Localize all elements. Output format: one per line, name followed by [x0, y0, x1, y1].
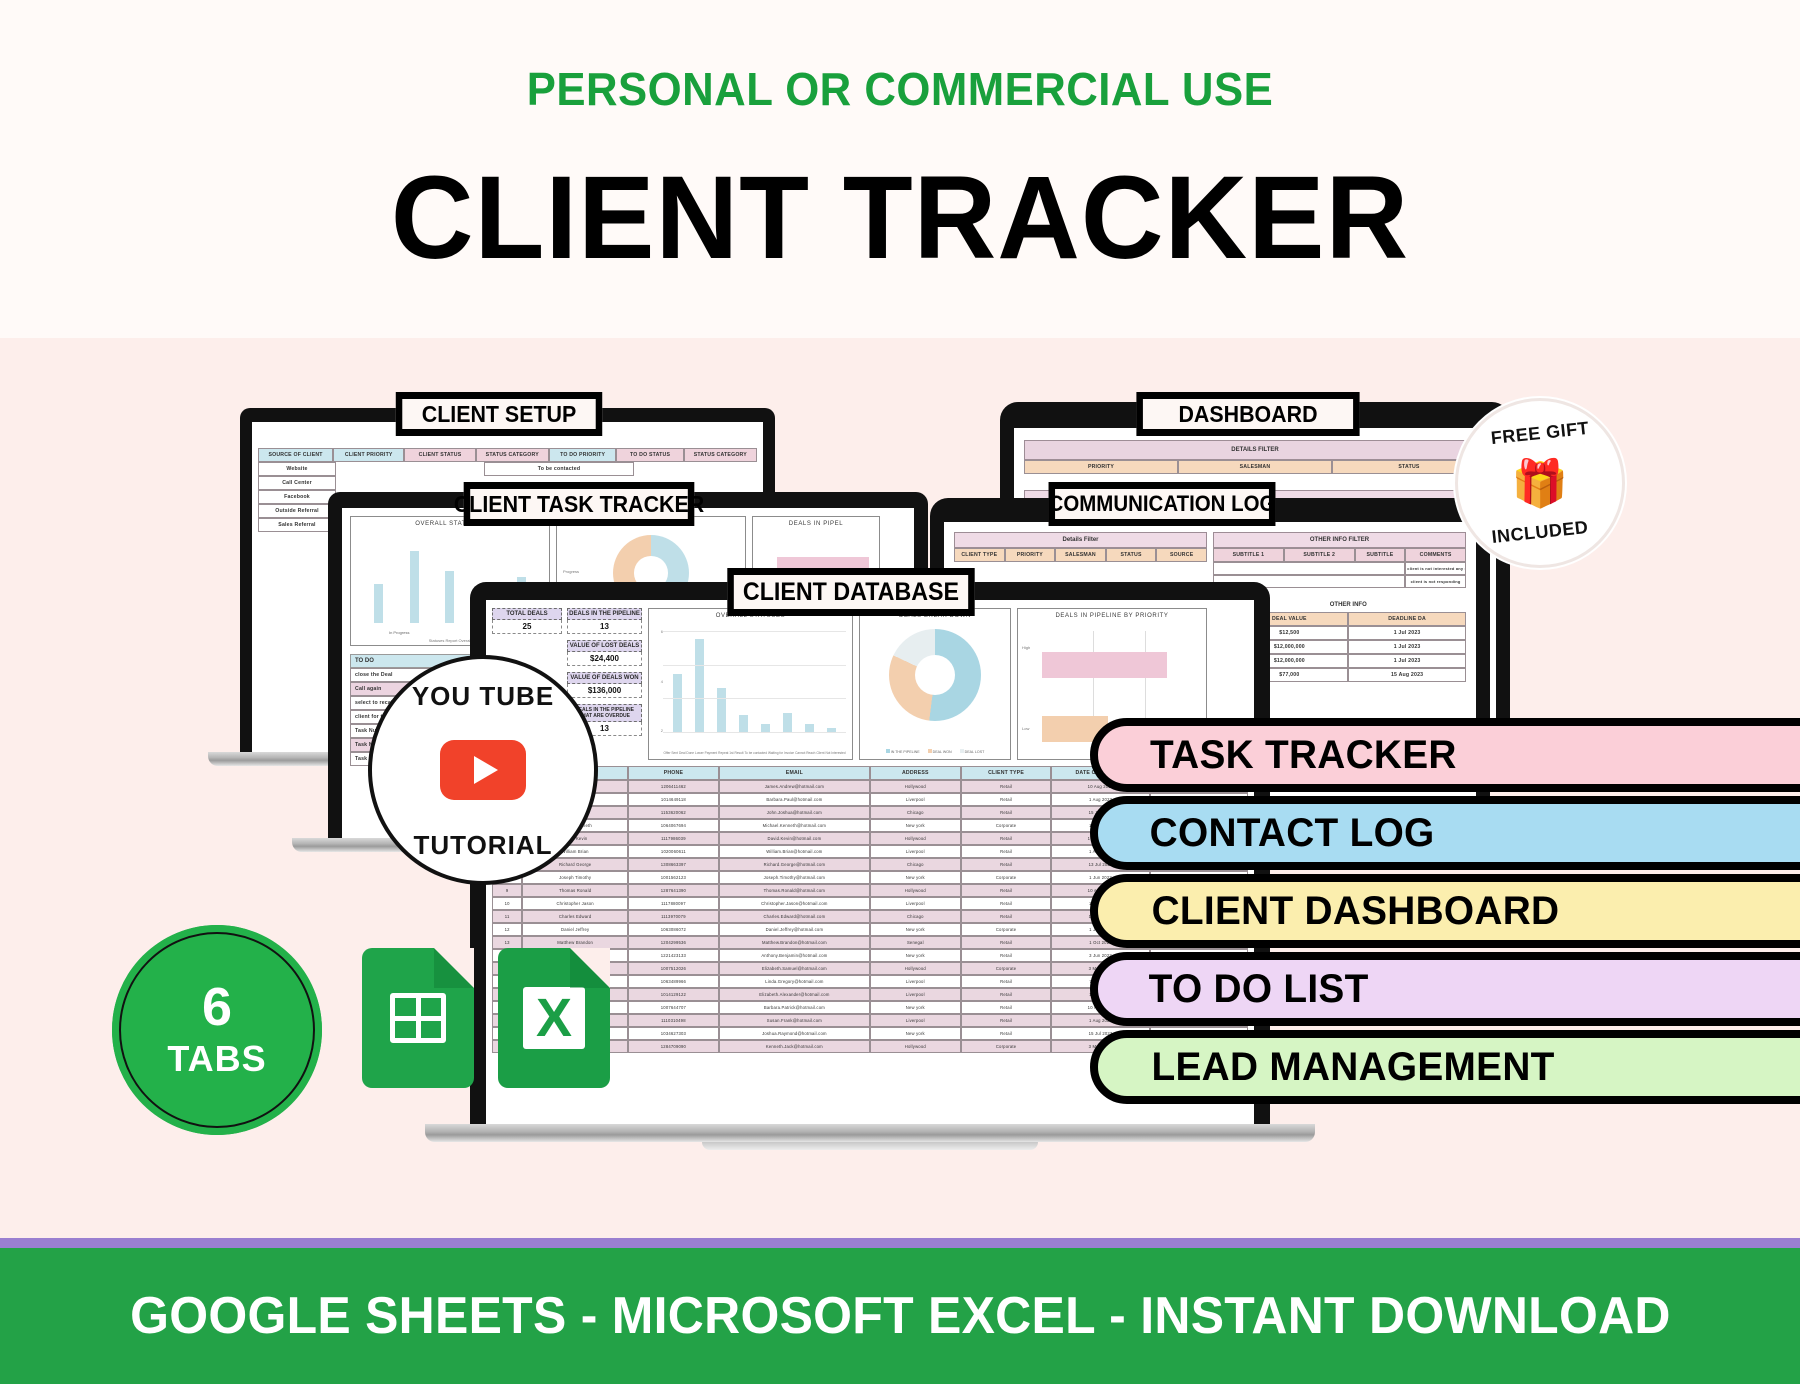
sheets-grid-glyph	[390, 993, 446, 1043]
table-cell: 15 Aug 2023	[1348, 668, 1466, 682]
table-cell: Richard.George@hotmail.com	[719, 858, 870, 871]
table-cell: 12	[492, 923, 522, 936]
kpi-label: DEALS IN THE PIPELINE	[567, 608, 642, 620]
label-dashboard: DASHBOARD	[1136, 392, 1359, 436]
kpi-value: $24,400	[567, 652, 642, 666]
table-cell: Retail	[961, 793, 1052, 806]
table-cell: Retail	[961, 1001, 1052, 1014]
table-cell: Retail	[961, 1014, 1052, 1027]
panel-title-deals-pipeline-priority: DEALS IN PIPELINE BY PRIORITY	[1018, 609, 1206, 621]
table-cell: Charles.Edward@hotmail.com	[719, 910, 870, 923]
table-cell: Thomas Ronald	[522, 884, 628, 897]
table-cell: Call Center	[258, 476, 336, 490]
table-cell: Christopher.Jason@hotmail.com	[719, 897, 870, 910]
axis-tick: To be contacted	[744, 751, 767, 755]
table-cell: 1 Jul 2023	[1348, 654, 1466, 668]
donut-chart-deals-break-down	[889, 629, 981, 721]
accent-rule	[0, 1238, 1800, 1248]
table-cell: Retail	[961, 884, 1052, 897]
table-cell: Joseph Timothy	[522, 871, 628, 884]
table-cell: 1 Jul 2023	[1348, 626, 1466, 640]
table-header-cell: STATUS CATEGORY	[476, 448, 549, 462]
axis-tick: Low	[1022, 726, 1029, 731]
youtube-badge-top-text: YOU TUBE	[372, 681, 594, 712]
table-cell: Matthew.Brandon@hotmail.com	[719, 936, 870, 949]
table-header-cell: SOURCE	[1156, 548, 1207, 562]
table-cell: Joshua.Raymond@hotmail.com	[719, 1027, 870, 1040]
table-cell: Barbara.Paul@hotmail.com	[719, 793, 870, 806]
table-cell: To be contacted	[484, 462, 634, 476]
table-cell: 1001562123	[628, 871, 719, 884]
table-header-cell: STATUS	[1106, 548, 1157, 562]
table-cell: Hollywood	[870, 832, 961, 845]
table-cell: 10	[492, 897, 522, 910]
table-cell: Retail	[961, 858, 1052, 871]
table-header-cell: SALESMAN	[1178, 460, 1332, 474]
microsoft-excel-icon: X	[498, 948, 610, 1088]
table-cell: 1221423133	[628, 949, 719, 962]
table-cell: Charles Edward	[522, 910, 628, 923]
table-header-cell: STATUS CATEGORY	[684, 448, 757, 462]
table-cell: John.Joshua@hotmail.com	[719, 806, 870, 819]
table-cell: Daniel Jeffrey	[522, 923, 628, 936]
table-cell: Liverpool	[870, 897, 961, 910]
table-cell: 1064067694	[628, 819, 719, 832]
axis-tick: High	[1022, 645, 1030, 650]
poster-canvas: PERSONAL OR COMMERCIAL USE CLIENT TRACKE…	[0, 0, 1800, 1384]
table-cell: client is not responding	[1405, 575, 1466, 588]
table-cell: 11	[492, 910, 522, 923]
table-cell: 1063489966	[628, 975, 719, 988]
label-client-task-tracker: CLIENT TASK TRACKER	[464, 482, 695, 526]
table-cell: Retail	[961, 988, 1052, 1001]
tabs-count-badge: 6 TABS	[112, 925, 322, 1135]
table-header-cell: PHONE	[628, 766, 719, 780]
table-cell: Liverpool	[870, 845, 961, 858]
table-header-cell: SUBTITLE 1	[1213, 548, 1284, 562]
table-cell: Christopher Jason	[522, 897, 628, 910]
table-header-cell: SUBTITLE 2	[1284, 548, 1355, 562]
table-cell: 1284709090	[628, 1040, 719, 1053]
table-cell: Retail	[961, 936, 1052, 949]
table-cell: Liverpool	[870, 793, 961, 806]
table-header-cell: TO DO STATUS	[616, 448, 683, 462]
table-cell: James.Andrew@hotmail.com	[719, 780, 870, 793]
table-cell: Outside Referral	[258, 504, 336, 518]
axis-tick: Repeat 1st Result	[718, 751, 743, 755]
table-cell: Retail	[961, 806, 1052, 819]
table-cell: Retail	[961, 832, 1052, 845]
details-filter-title: Details Filter	[954, 532, 1207, 548]
table-header-cell: COMMENTS	[1405, 548, 1466, 562]
table-cell: 1110310498	[628, 1014, 719, 1027]
free-gift-top-text: FREE GIFT	[1457, 414, 1622, 452]
table-cell: Corporate	[961, 819, 1052, 832]
axis-tick: 4	[661, 679, 663, 684]
table-cell: 9	[492, 884, 522, 897]
label-client-setup: CLIENT SETUP	[396, 392, 602, 436]
kpi-value: 13	[567, 620, 642, 634]
laptop-notch	[702, 1142, 1038, 1150]
kpi-label: TOTAL DEALS	[492, 608, 562, 620]
table-cell: Hollywood	[870, 1040, 961, 1053]
table-header-cell: SALESMAN	[1055, 548, 1106, 562]
table-header-cell: ADDRESS	[870, 766, 961, 780]
priority-bar-high	[1042, 652, 1167, 678]
tab-label: LEAD MANAGEMENT	[1105, 1045, 1555, 1090]
table-header-cell: SOURCE OF CLIENT	[258, 448, 333, 462]
table-cell: David.Kevin@hotmail.com	[719, 832, 870, 845]
table-cell: New york	[870, 949, 961, 962]
axis-tick: Lower Payment	[695, 751, 717, 755]
table-header-cell: TO DO PRIORITY	[549, 448, 616, 462]
table-cell: Retail	[961, 780, 1052, 793]
table-cell: Sales Referral	[258, 518, 336, 532]
axis-tick: 6	[661, 629, 663, 634]
table-cell: Liverpool	[870, 975, 961, 988]
axis-tick: Deal Done	[679, 751, 694, 755]
table-cell: 1287641390	[628, 884, 719, 897]
axis-tick: Waiting for Invoice	[768, 751, 794, 755]
axis-tick: Not Interested	[825, 751, 845, 755]
gift-icon: 🎁	[1511, 460, 1568, 506]
table-cell: Joseph.Timothy@hotmail.com	[719, 871, 870, 884]
table-header-cell: EMAIL	[719, 766, 870, 780]
footer-text: GOOGLE SHEETS - MICROSOFT EXCEL - INSTAN…	[130, 1286, 1671, 1346]
play-icon	[440, 740, 526, 800]
bar-chart-overall-statuses	[663, 631, 846, 733]
table-cell: 1020060611	[628, 845, 719, 858]
legend-item: DEAL WON	[928, 749, 952, 754]
table-cell: Chicago	[870, 910, 961, 923]
free-gift-badge: FREE GIFT 🎁 INCLUDED	[1455, 398, 1625, 568]
tab-to-do-list[interactable]: TO DO LIST	[1090, 952, 1800, 1026]
axis-tick: Offer Sent	[663, 751, 677, 755]
table-header-cell: DEADLINE DA	[1348, 612, 1466, 626]
table-cell: New york	[870, 871, 961, 884]
tab-label: TO DO LIST	[1102, 967, 1368, 1012]
legend-item: IN THE PIPELINE	[886, 749, 920, 754]
tab-client-dashboard[interactable]: CLIENT DASHBOARD	[1090, 874, 1800, 948]
eyebrow-text: PERSONAL OR COMMERCIAL USE	[45, 62, 1755, 116]
table-cell: Hollywood	[870, 962, 961, 975]
table-cell: 1308663397	[628, 858, 719, 871]
table-header-cell: SUBTITLE	[1355, 548, 1406, 562]
table-cell: New york	[870, 1001, 961, 1014]
table-cell: Chicago	[870, 858, 961, 871]
other-info-filter-title: OTHER INFO FILTER	[1213, 532, 1466, 548]
table-cell: Corporate	[961, 871, 1052, 884]
table-cell: 1014129122	[628, 988, 719, 1001]
table-cell: Chicago	[870, 806, 961, 819]
table-cell: 1113970079	[628, 910, 719, 923]
table-cell: 1034627303	[628, 1027, 719, 1040]
page-title: CLIENT TRACKER	[27, 150, 1773, 286]
table-cell: Retail	[961, 1027, 1052, 1040]
table-cell: Hollywood	[870, 884, 961, 897]
table-cell: Barbara.Patrick@hotmail.com	[719, 1001, 870, 1014]
youtube-badge-bottom-text: TUTORIAL	[372, 830, 594, 861]
table-cell: 1117986039	[628, 832, 719, 845]
table-cell: Michael.Kenneth@hotmail.com	[719, 819, 870, 832]
table-header-cell: CLIENT TYPE	[954, 548, 1005, 562]
table-header-cell: CLIENT PRIORITY	[333, 448, 404, 462]
axis-tick: In Progress	[389, 630, 409, 635]
table-cell: Retail	[961, 897, 1052, 910]
table-cell: client is not interested any more	[1405, 562, 1466, 575]
panel-title-deals-in-pipeline: DEALS IN PIPEL	[753, 517, 879, 529]
youtube-tutorial-badge[interactable]: YOU TUBE TUTORIAL	[368, 655, 598, 885]
table-cell: 1007644707	[628, 1001, 719, 1014]
client-setup-header-row: SOURCE OF CLIENT CLIENT PRIORITY CLIENT …	[258, 448, 757, 462]
table-cell: Retail	[961, 975, 1052, 988]
table-cell: 1206411462	[628, 780, 719, 793]
tab-contact-log[interactable]: CONTACT LOG	[1090, 796, 1800, 870]
table-header-cell: CLIENT STATUS	[404, 448, 475, 462]
table-cell: Retail	[961, 949, 1052, 962]
table-cell: Hollywood	[870, 780, 961, 793]
tab-label: CLIENT DASHBOARD	[1105, 889, 1559, 934]
table-cell: New york	[870, 819, 961, 832]
footer-banner: GOOGLE SHEETS - MICROSOFT EXCEL - INSTAN…	[0, 1248, 1800, 1384]
google-sheets-icon	[362, 948, 474, 1088]
table-cell: Retail	[961, 910, 1052, 923]
header-band: PERSONAL OR COMMERCIAL USE CLIENT TRACKE…	[0, 0, 1800, 338]
table-cell: 1 Jul 2023	[1348, 640, 1466, 654]
legend-item: DEAL LOST	[960, 749, 985, 754]
axis-tick: 2	[661, 728, 663, 733]
laptop-base	[425, 1124, 1315, 1142]
label-client-database: CLIENT DATABASE	[727, 568, 974, 616]
table-cell: William.Brian@hotmail.com	[719, 845, 870, 858]
table-cell: Senegal	[870, 936, 961, 949]
table-cell: Daniel.Jeffrey@hotmail.com	[719, 923, 870, 936]
table-cell: Retail	[961, 845, 1052, 858]
chart-label: Progress	[563, 569, 579, 574]
table-cell: Corporate	[961, 962, 1052, 975]
table-cell: 1153620062	[628, 806, 719, 819]
table-cell: 1117880097	[628, 897, 719, 910]
table-cell: Corporate	[961, 1040, 1052, 1053]
table-header-cell: CLIENT TYPE	[961, 766, 1052, 780]
kpi-label: VALUE OF LOST DEALS	[567, 640, 642, 652]
tab-task-tracker[interactable]: TASK TRACKER	[1090, 718, 1800, 792]
tab-lead-management[interactable]: LEAD MANAGEMENT	[1090, 1030, 1800, 1104]
tab-label: TASK TRACKER	[1103, 733, 1456, 778]
table-cell: Linda.Gregory@hotmail.com	[719, 975, 870, 988]
tab-label: CONTACT LOG	[1103, 811, 1434, 856]
kpi-value: 25	[492, 620, 562, 634]
excel-letter: X	[536, 991, 572, 1045]
table-cell: New york	[870, 1027, 961, 1040]
axis-tick: Cannot Reach Client	[795, 751, 824, 755]
label-communication-log: COMMUNICATION LOG	[1049, 482, 1276, 526]
table-cell: Susan.Frank@hotmail.com	[719, 1014, 870, 1027]
table-cell: Corporate	[961, 923, 1052, 936]
table-cell: Kenneth.Jack@hotmail.com	[719, 1040, 870, 1053]
table-cell: Thomas.Ronald@hotmail.com	[719, 884, 870, 897]
table-cell: Liverpool	[870, 988, 961, 1001]
table-cell: Website	[258, 462, 336, 476]
table-cell: 1007512026	[628, 962, 719, 975]
table-cell: Elizabeth.Alexander@hotmail.com	[719, 988, 870, 1001]
table-cell: Elizabeth.Samuel@hotmail.com	[719, 962, 870, 975]
table-cell: Anthony.Benjamin@hotmail.com	[719, 949, 870, 962]
table-cell: Liverpool	[870, 1014, 961, 1027]
dashboard-details-filter-title: DETAILS FILTER	[1024, 440, 1486, 460]
table-cell: 1204299536	[628, 936, 719, 949]
table-header-cell: PRIORITY	[1005, 548, 1056, 562]
table-cell: 1063086072	[628, 923, 719, 936]
table-header-cell: PRIORITY	[1024, 460, 1178, 474]
table-cell: 1014649118	[628, 793, 719, 806]
table-cell: Facebook	[258, 490, 336, 504]
table-cell: New york	[870, 923, 961, 936]
badge-ring	[119, 932, 315, 1128]
